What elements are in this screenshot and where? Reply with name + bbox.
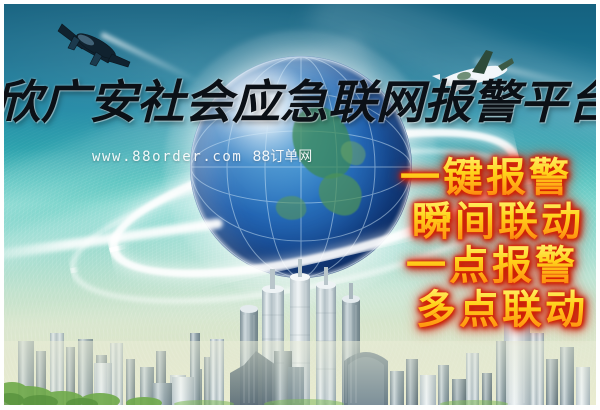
slogan-line-2: 瞬间联动 bbox=[400, 200, 588, 244]
slogan-line-3: 一点报警 bbox=[400, 244, 588, 288]
airplane-dark-icon bbox=[52, 18, 138, 72]
banner-title: 欣广安社会应急联网报警平台 bbox=[4, 76, 596, 128]
promo-banner: 欣广安社会应急联网报警平台 www.88order.com 88订单网 一键报警… bbox=[0, 0, 600, 410]
slogan-line-1: 一键报警 bbox=[400, 156, 588, 200]
slogan-block: 一键报警 瞬间联动 一点报警 多点联动 bbox=[400, 156, 588, 332]
watermark: www.88order.com 88订单网 bbox=[92, 146, 312, 166]
watermark-site-name: 88订单网 bbox=[252, 149, 312, 165]
watermark-url: www.88order.com bbox=[92, 149, 242, 165]
banner-stage: 欣广安社会应急联网报警平台 www.88order.com 88订单网 一键报警… bbox=[4, 4, 596, 405]
slogan-line-4: 多点联动 bbox=[400, 288, 588, 332]
foliage bbox=[4, 371, 596, 405]
